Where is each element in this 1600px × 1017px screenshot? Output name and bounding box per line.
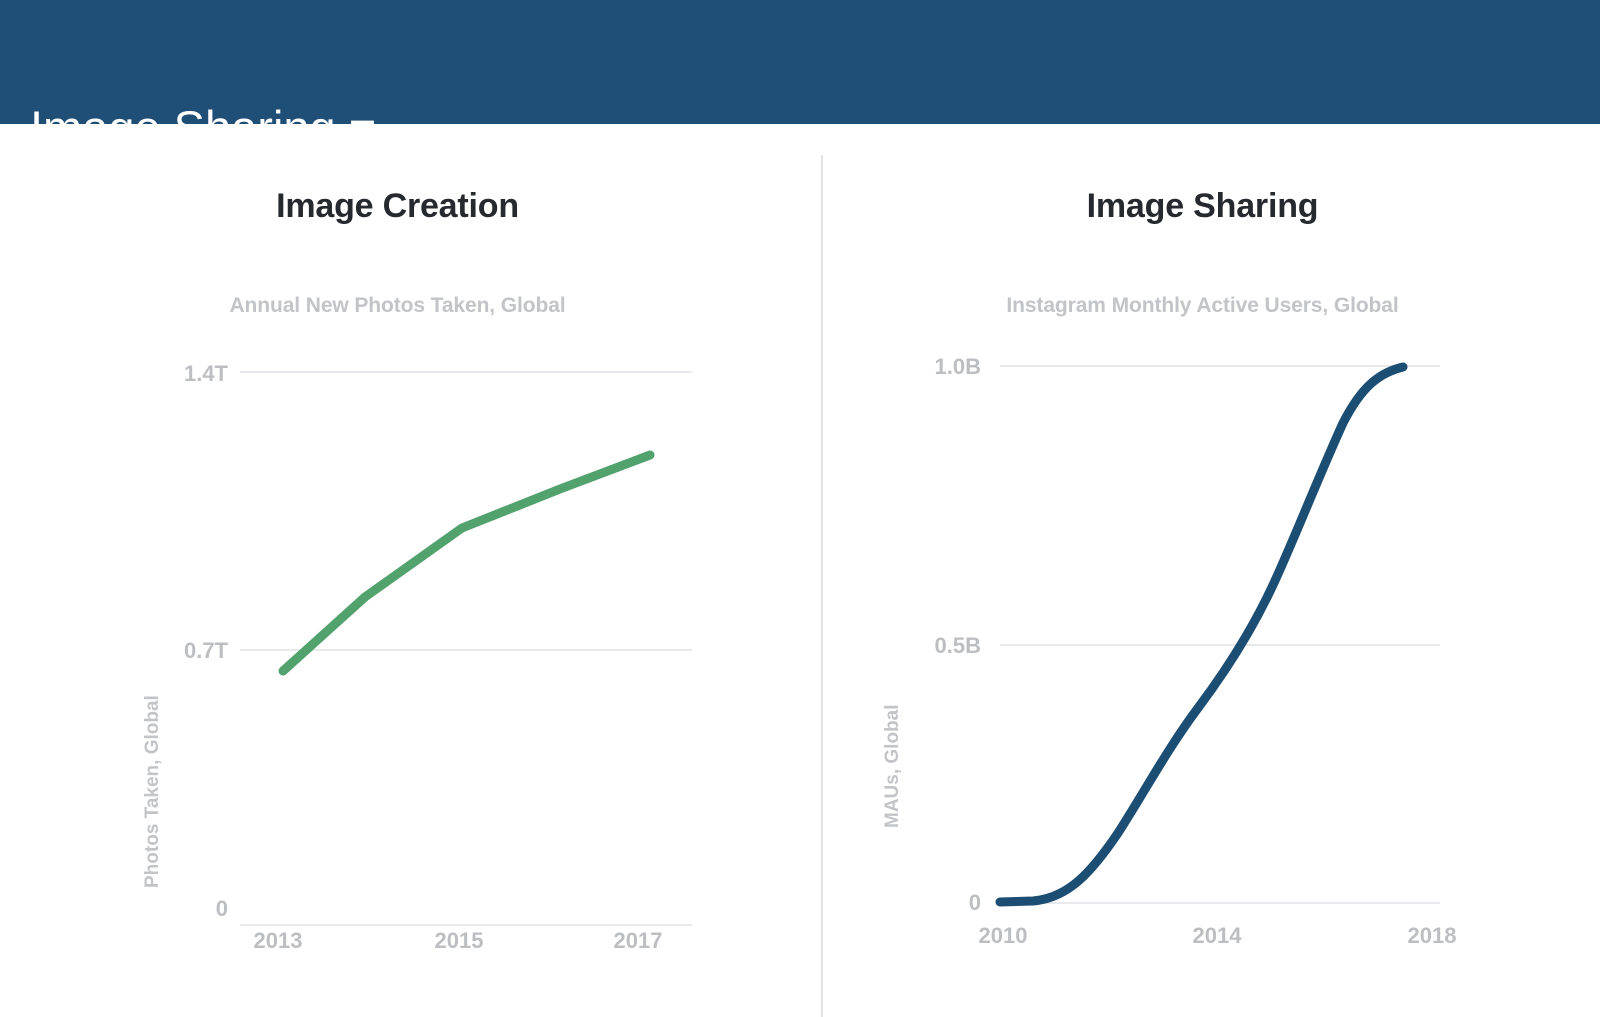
- chart-image-sharing: MAUs, Global 1.0B 0.5B 0 2010 2014 2018: [873, 228, 1513, 928]
- header-banner: Image Sharing = Foundations Continue to …: [0, 0, 1600, 124]
- y-tick-label-left-0: 1.4T: [120, 361, 228, 387]
- chart-svg-image-sharing: [873, 228, 1513, 928]
- x-tick-label-right-1: 2014: [1177, 923, 1257, 949]
- y-axis-title-left: Photos Taken, Global: [142, 695, 164, 888]
- y-tick-label-right-2: 0: [873, 890, 981, 916]
- y-tick-label-left-1: 0.7T: [120, 638, 228, 664]
- x-tick-label-right-0: 2010: [963, 923, 1043, 949]
- y-tick-label-left-2: 0: [120, 896, 228, 922]
- chart-image-creation: Photos Taken, Global 1.4T 0.7T 0 2013 20…: [120, 228, 720, 928]
- panel-image-sharing: Image Sharing Instagram Monthly Active U…: [823, 124, 1600, 1017]
- page-title: Image Sharing = Foundations Continue to …: [30, 0, 681, 124]
- chart-svg-image-creation: [120, 228, 720, 928]
- panel-image-creation: Image Creation Annual New Photos Taken, …: [0, 124, 821, 1017]
- y-tick-label-right-0: 1.0B: [873, 354, 981, 380]
- charts-area: Image Creation Annual New Photos Taken, …: [0, 124, 1600, 1017]
- panel-title-image-creation: Image Creation: [0, 187, 808, 226]
- page-title-line-1: Image Sharing =: [30, 100, 681, 124]
- x-tick-label-left-0: 2013: [238, 928, 318, 954]
- series-line-photos-taken: [283, 455, 650, 671]
- gridlines-right: [1000, 366, 1440, 903]
- y-axis-title-right: MAUs, Global: [882, 704, 904, 828]
- panel-title-image-sharing: Image Sharing: [814, 187, 1591, 226]
- y-tick-label-right-1: 0.5B: [873, 633, 981, 659]
- series-line-instagram-maus: [1000, 367, 1403, 902]
- x-tick-label-left-1: 2015: [419, 928, 499, 954]
- x-tick-label-left-2: 2017: [598, 928, 678, 954]
- x-tick-label-right-2: 2018: [1392, 923, 1472, 949]
